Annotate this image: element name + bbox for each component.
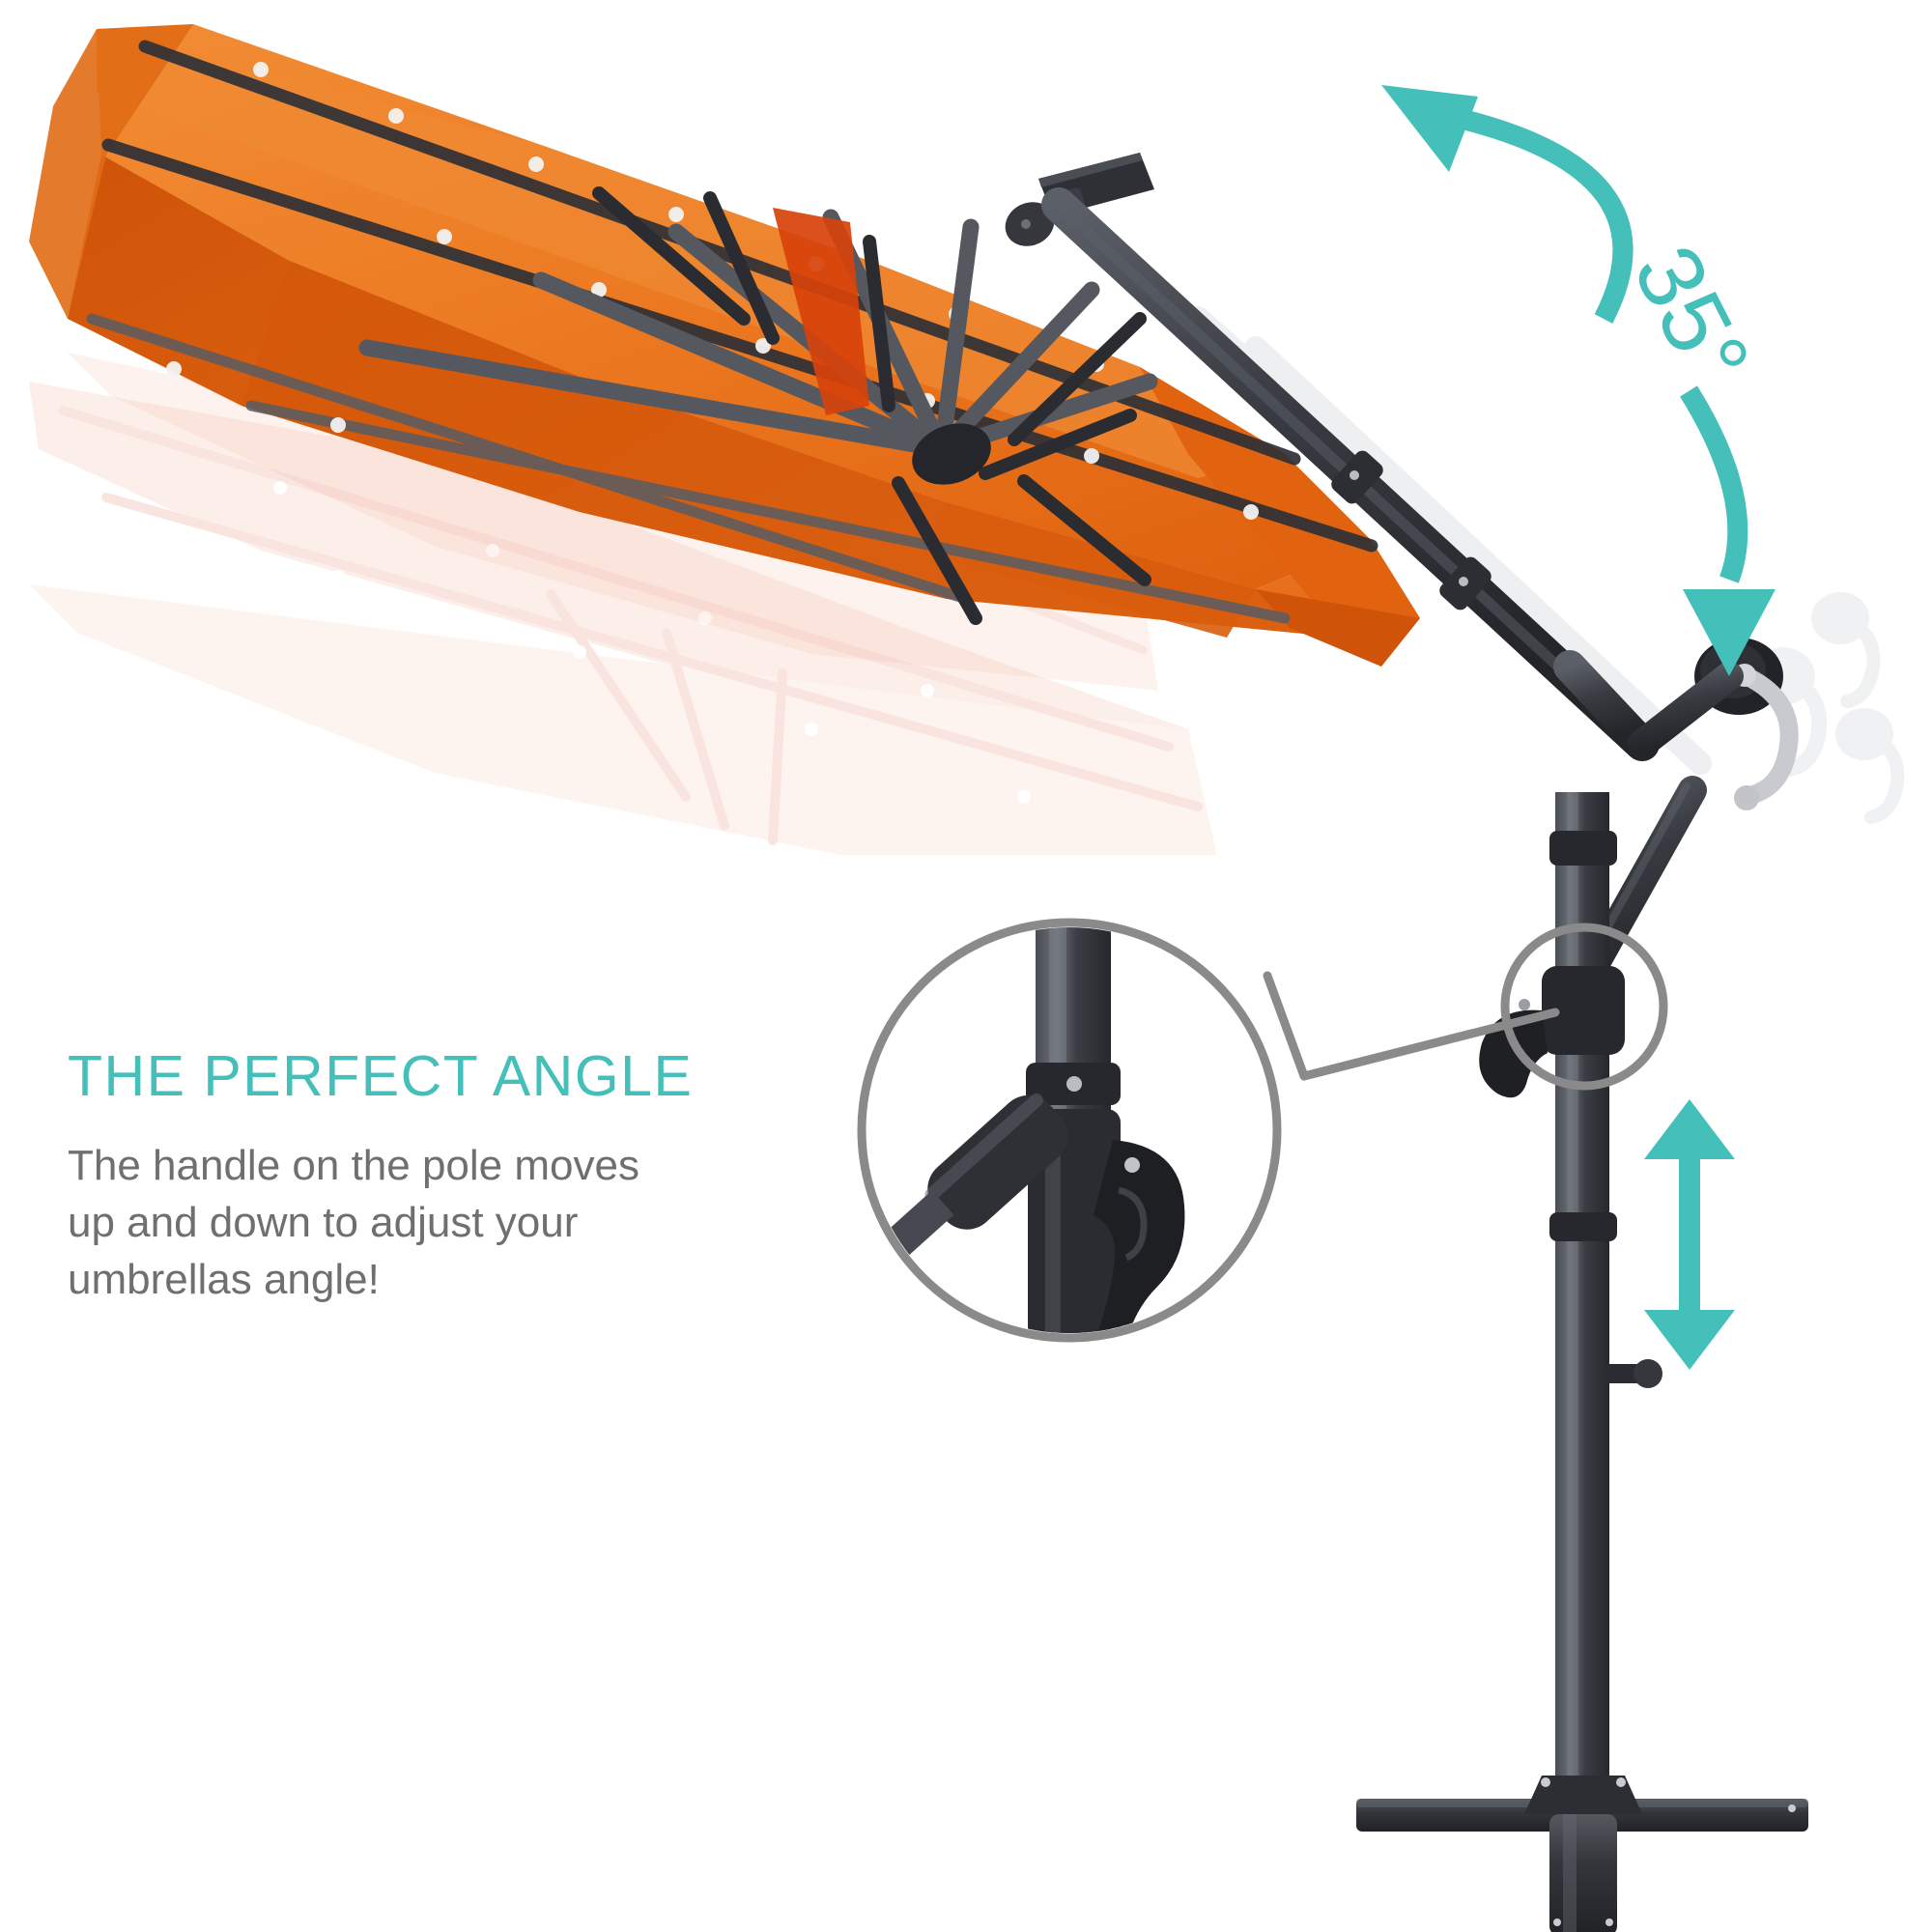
pole-pin-knob (1604, 1359, 1662, 1388)
product-feature-image: 35° (0, 0, 1932, 1932)
handle-detail-callout (830, 898, 1663, 1374)
angle-value-label: 35° (1613, 230, 1769, 402)
crank-handle[interactable] (1642, 638, 1789, 810)
umbrella-illustration: 35° (0, 0, 1932, 1932)
arrow-up-left-icon (1381, 85, 1478, 172)
feature-description: The handle on the pole moves up and down… (68, 1138, 667, 1309)
height-adjust-arrow (1644, 1099, 1735, 1370)
page-title: THE PERFECT ANGLE (68, 1048, 705, 1105)
umbrella-base (1356, 1776, 1808, 1932)
feature-text-block: THE PERFECT ANGLE The handle on the pole… (68, 1048, 705, 1309)
